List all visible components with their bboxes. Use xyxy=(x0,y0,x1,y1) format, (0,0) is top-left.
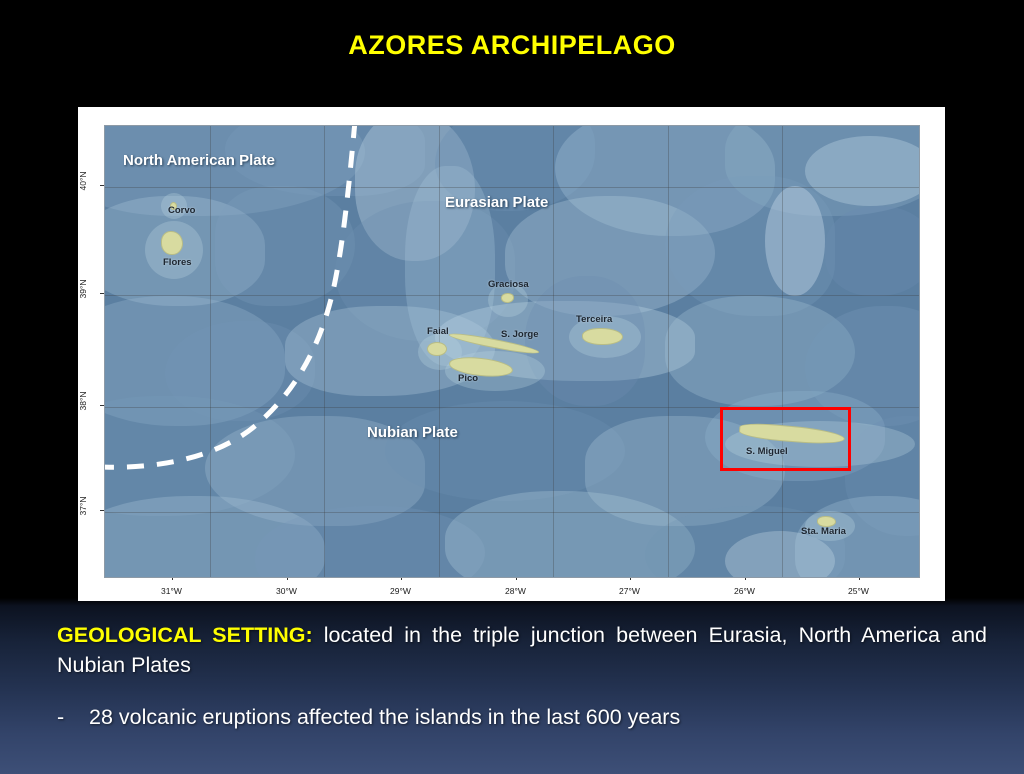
y-axis-tick-37n: 37°N xyxy=(78,489,88,523)
island-label-flores: Flores xyxy=(163,257,192,268)
y-axis-tick-38n: 38°N xyxy=(78,384,88,418)
x-axis-tick-29w: 29°W xyxy=(390,586,411,596)
plate-label-north-american: North American Plate xyxy=(123,152,275,169)
x-axis-tick-31w: 31°W xyxy=(161,586,182,596)
page-title: AZORES ARCHIPELAGO xyxy=(0,30,1024,61)
bullet-marker: - xyxy=(57,705,67,730)
bullet-item-eruptions: - 28 volcanic eruptions affected the isl… xyxy=(57,705,680,730)
x-axis-tick-27w: 27°W xyxy=(619,586,640,596)
x-axis-tick-28w: 28°W xyxy=(505,586,526,596)
island-label-terceira: Terceira xyxy=(576,314,612,325)
x-axis-tick-25w: 25°W xyxy=(848,586,869,596)
y-axis-tick-40n: 40°N xyxy=(78,164,88,198)
bathymetry-map[interactable]: North American Plate Eurasian Plate Nubi… xyxy=(104,125,920,578)
island-label-pico: Pico xyxy=(458,373,478,384)
island-label-sta-maria: Sta. Maria xyxy=(801,526,846,537)
x-axis-tick-30w: 30°W xyxy=(276,586,297,596)
caption-lead-label: GEOLOGICAL SETTING: xyxy=(57,623,313,647)
highlight-rectangle-s-miguel[interactable] xyxy=(720,407,851,471)
plate-label-nubian: Nubian Plate xyxy=(367,424,458,441)
island-label-faial: Faial xyxy=(427,326,449,337)
map-inner-canvas: North American Plate Eurasian Plate Nubi… xyxy=(105,126,919,577)
island-label-corvo: Corvo xyxy=(168,205,195,216)
plate-label-eurasian: Eurasian Plate xyxy=(445,194,548,211)
geological-setting-paragraph: GEOLOGICAL SETTING: located in the tripl… xyxy=(57,620,987,680)
caption-block: GEOLOGICAL SETTING: located in the tripl… xyxy=(57,620,997,680)
island-label-graciosa: Graciosa xyxy=(488,279,529,290)
bullet-text: 28 volcanic eruptions affected the islan… xyxy=(89,705,680,730)
y-axis-tick-39n: 39°N xyxy=(78,272,88,306)
x-axis-tick-26w: 26°W xyxy=(734,586,755,596)
island-label-s-jorge: S. Jorge xyxy=(501,329,539,340)
